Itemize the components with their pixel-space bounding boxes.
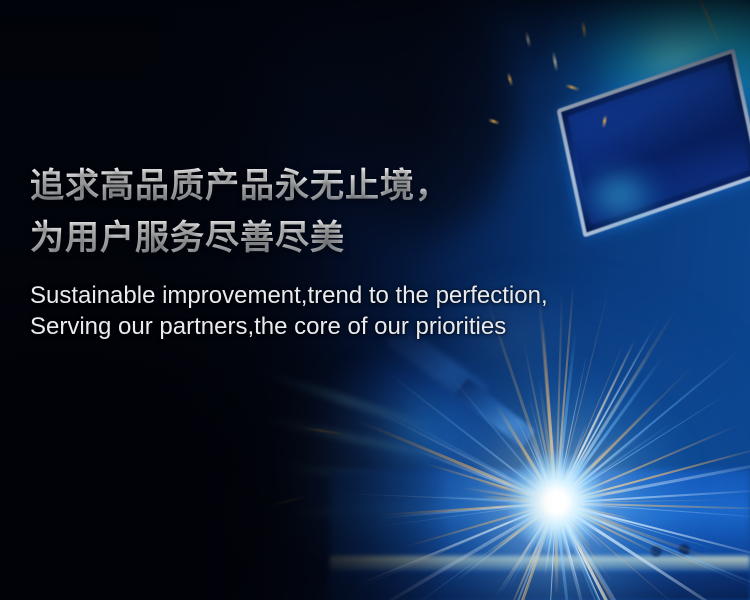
- welding-arc-icon: [506, 452, 606, 552]
- headline-line-2: 为用户服务尽善尽美: [30, 212, 720, 264]
- subheadline-line-1: Sustainable improvement,trend to the per…: [30, 280, 720, 311]
- headline-line-1: 追求高品质产品永无止境，: [30, 160, 720, 212]
- welding-hero-banner: 追求高品质产品永无止境， 为用户服务尽善尽美 Sustainable impro…: [0, 0, 750, 600]
- subheadline-block: Sustainable improvement,trend to the per…: [30, 280, 720, 342]
- hero-copy: 追求高品质产品永无止境， 为用户服务尽善尽美 Sustainable impro…: [30, 160, 720, 342]
- subheadline-line-2: Serving our partners,the core of our pri…: [30, 311, 720, 342]
